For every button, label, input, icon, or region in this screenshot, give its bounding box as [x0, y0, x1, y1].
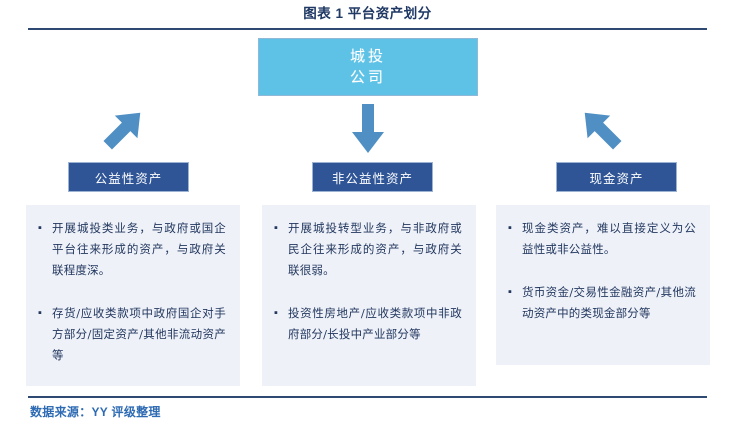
panel-non-public-welfare-assets: ▪ 开展城投转型业务，与非政府或民企往来形成的资产，与政府关联很弱。 ▪ 投资性…	[262, 205, 476, 386]
panel-public-welfare-assets: ▪ 开展城投类业务，与政府或国企平台往来形成的资产，与政府关联程度深。 ▪ 存货…	[26, 205, 240, 386]
page-title: 图表 1 平台资产划分	[0, 5, 735, 23]
arrow-down-right-icon	[573, 104, 629, 154]
list-item: ▪ 投资性房地产/应收类款项中非政府部分/长投中产业部分等	[272, 303, 462, 345]
panel-cash-assets: ▪ 现金类资产，难以直接定义为公益性或非公益性。 ▪ 货币资金/交易性金融资产/…	[496, 205, 710, 365]
footer-divider	[28, 396, 707, 398]
bullet-icon: ▪	[506, 218, 522, 239]
list-item: ▪ 开展城投类业务，与政府或国企平台往来形成的资产，与政府关联程度深。	[36, 218, 226, 281]
root-node-chengtou-company: 城投 公司	[258, 38, 478, 96]
list-item-text: 现金类资产，难以直接定义为公益性或非公益性。	[522, 218, 696, 260]
root-node-label-line2: 公司	[350, 67, 386, 88]
list-item-text: 存货/应收类款项中政府国企对手方部分/固定资产/其他非流动资产等	[52, 303, 226, 366]
list-item: ▪ 现金类资产，难以直接定义为公益性或非公益性。	[506, 218, 696, 260]
source-note: 数据来源：YY 评级整理	[30, 403, 161, 421]
title-divider	[28, 28, 707, 30]
bullet-icon: ▪	[36, 303, 52, 324]
bullet-icon: ▪	[506, 282, 522, 303]
arrow-down-icon	[348, 104, 388, 154]
list-item-text: 投资性房地产/应收类款项中非政府部分/长投中产业部分等	[288, 303, 462, 345]
list-item-text: 开展城投转型业务，与非政府或民企往来形成的资产，与政府关联很弱。	[288, 218, 462, 281]
bullet-icon: ▪	[272, 218, 288, 239]
branch-header-cash-assets: 现金资产	[556, 162, 677, 192]
bullet-icon: ▪	[36, 218, 52, 239]
bullet-icon: ▪	[272, 303, 288, 324]
root-node-label-line1: 城投	[350, 46, 386, 67]
list-item-text: 货币资金/交易性金融资产/其他流动资产中的类现金部分等	[522, 282, 696, 324]
figure-page: { "figure": { "title": "图表 1 平台资产划分", "s…	[0, 0, 735, 427]
branch-header-non-public-welfare-assets: 非公益性资产	[312, 162, 433, 192]
list-item-text: 开展城投类业务，与政府或国企平台往来形成的资产，与政府关联程度深。	[52, 218, 226, 281]
branch-header-public-welfare-assets: 公益性资产	[68, 162, 189, 192]
arrow-down-left-icon	[96, 104, 152, 154]
list-item: ▪ 货币资金/交易性金融资产/其他流动资产中的类现金部分等	[506, 282, 696, 324]
list-item: ▪ 存货/应收类款项中政府国企对手方部分/固定资产/其他非流动资产等	[36, 303, 226, 366]
list-item: ▪ 开展城投转型业务，与非政府或民企往来形成的资产，与政府关联很弱。	[272, 218, 462, 281]
